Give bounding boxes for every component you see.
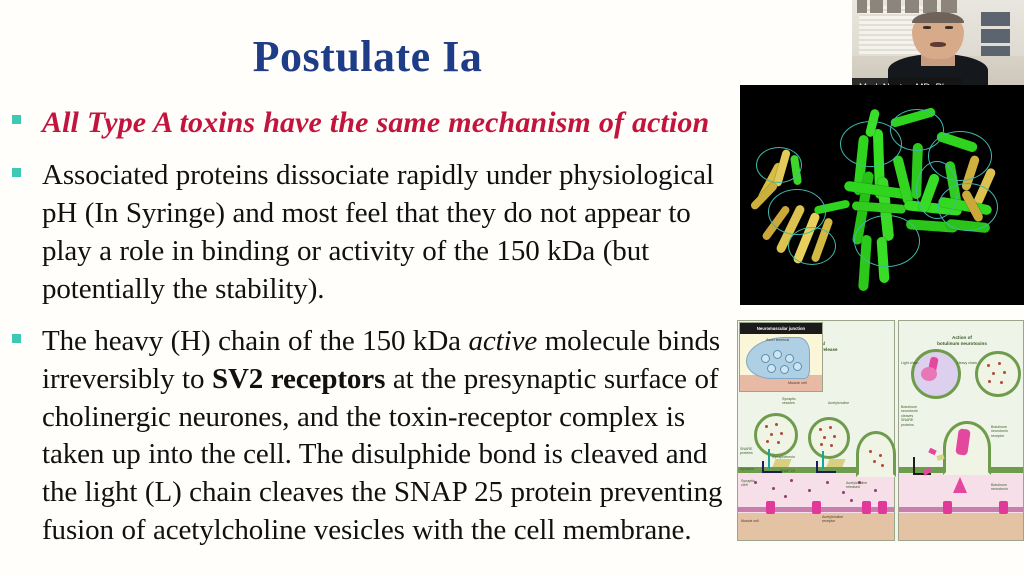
label-muscle-cell: Muscle cell: [788, 381, 807, 386]
bullet-square-icon: [12, 334, 21, 343]
acetylcholine-receptor: [812, 501, 821, 514]
acetylcholine-receptor: [999, 501, 1008, 514]
nmj-mechanism-diagram: Normal transmitter release Neuron Synapt…: [737, 320, 1024, 541]
label-acetylcholine-released: Acetylcholine released: [846, 481, 867, 490]
neuromuscular-junction-inset: Neuromuscular junction Axon terminal Mus…: [739, 322, 823, 392]
toxin-light-chain: [921, 367, 937, 381]
acetylcholine-receptor: [878, 501, 887, 514]
synaptic-vesicle: [975, 351, 1021, 397]
label-heavy-chain: Heavy chain: [957, 361, 977, 365]
label-toxin-receptor: Botulinum neurotoxin receptor: [991, 425, 1008, 438]
muscle-cell-region: [899, 513, 1023, 540]
label-syntaxin: Syntaxin: [740, 467, 754, 471]
label-snap25: SNAP 25: [780, 469, 795, 473]
label-acetylcholine-receptor: Acetylcholine receptor: [822, 515, 843, 524]
bullet-text-rich: The heavy (H) chain of the 150 kDa activ…: [42, 325, 722, 547]
label-snare-proteins: SNARE proteins: [740, 447, 753, 456]
wall-frames-right-column: [981, 12, 1010, 62]
label-synaptic-vesicles: Synaptic vesicles: [782, 397, 796, 406]
bullet-segment-italic: active: [469, 325, 538, 357]
page-title: Postulate Ia: [0, 34, 735, 80]
wall-frames-top-row: [857, 0, 957, 13]
person-eye-left: [923, 26, 932, 28]
panel-title-botulinum-action: Action of botulinum neurotoxins: [905, 335, 1019, 347]
fusing-vesicle: [856, 431, 896, 477]
bullet-text: Associated proteins dissociate rapidly u…: [42, 159, 714, 305]
list-item: The heavy (H) chain of the 150 kDa activ…: [0, 323, 735, 551]
coil-loop: [916, 161, 958, 219]
video-participant-tile[interactable]: Mark Nestor, MD, Ph...: [852, 0, 1024, 97]
muscle-cell-region: [738, 513, 894, 540]
list-item: Associated proteins dissociate rapidly u…: [0, 157, 735, 309]
snare-snap25: [826, 459, 845, 467]
coil-loop: [788, 227, 836, 265]
label-synaptic-cleft: Synaptic cleft: [741, 479, 755, 488]
slide-content-area: Postulate Ia All Type A toxins have the …: [0, 0, 735, 576]
person-mouth: [930, 42, 945, 47]
bullet-segment: The heavy (H) chain of the 150 kDa: [42, 325, 469, 357]
label-synaptobrevin: Synaptobrevin: [772, 455, 795, 459]
label-acetylcholine: Acetylcholine: [828, 401, 849, 405]
label-axon-terminal: Axon terminal: [766, 338, 789, 343]
cleaved-snare-fragment: [928, 448, 936, 456]
list-item: All Type A toxins have the same mechanis…: [0, 103, 735, 143]
person-eye-right: [945, 26, 954, 28]
label-muscle-cell: Muscle cell: [741, 519, 759, 523]
acetylcholine-receptor: [943, 501, 952, 514]
inset-axon-terminal: [746, 337, 810, 379]
right-media-rail: Mark Nestor, MD, Ph...: [735, 0, 1024, 576]
coil-loop: [756, 147, 802, 183]
bullet-text: All Type A toxins have the same mechanis…: [42, 106, 709, 139]
coil-loop: [854, 215, 920, 267]
protein-structure-image: [740, 85, 1024, 305]
synaptic-vesicle: [754, 413, 798, 457]
diagram-panel-botulinum-action: Action of botulinum neurotoxins Light ch…: [898, 320, 1024, 541]
bullet-segment-bold: SV2 receptors: [212, 363, 385, 395]
synaptic-vesicle: [808, 417, 850, 459]
inset-title: Neuromuscular junction: [740, 323, 822, 334]
bullet-list: All Type A toxins have the same mechanis…: [0, 103, 735, 554]
bullet-square-icon: [12, 115, 21, 124]
label-botulinum-neurotoxin: Botulinum neurotoxin: [991, 483, 1008, 492]
label-toxin-cleaves-snare: Botulinum neurotoxin cleaves SNARE prote…: [901, 405, 918, 427]
bullet-square-icon: [12, 168, 21, 177]
acetylcholine-receptor: [766, 501, 775, 514]
label-light-chain: Light chain: [901, 361, 918, 365]
acetylcholine-receptor: [862, 501, 871, 514]
snare-snap25: [772, 459, 791, 467]
